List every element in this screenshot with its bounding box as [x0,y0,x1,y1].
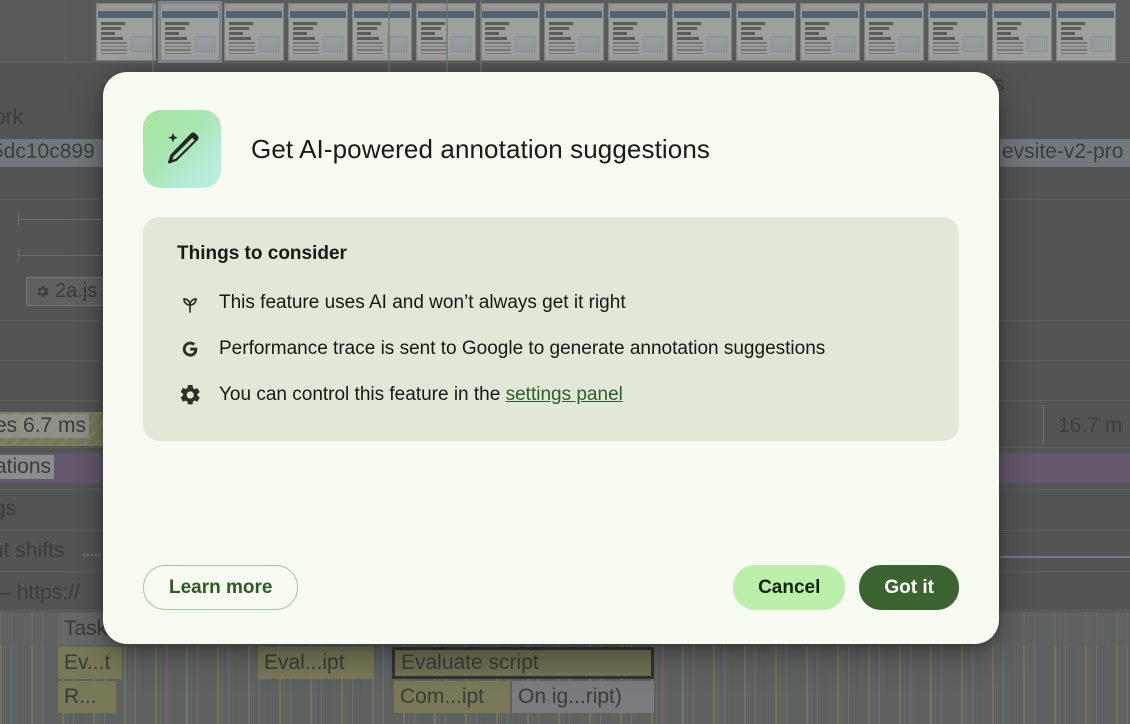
frame-chrome [609,4,667,10]
frame-image [451,36,471,52]
filmstrip-frame[interactable] [1056,3,1116,61]
frame-title [1061,22,1085,40]
layout-shift-marker [1000,556,1130,558]
frame-image [963,36,983,52]
frame-body [357,42,383,56]
flame-chart-row[interactable]: R... Com...ipt On ig...ript) [0,680,1130,714]
frame-image [323,36,343,52]
filmstrip-frame[interactable] [672,3,732,61]
frame-chrome [929,4,987,10]
frame-navbar [802,11,858,18]
filmstrip-frame[interactable] [992,3,1052,61]
frame-body [805,42,831,56]
frame-chrome [289,4,347,10]
filmstrip-frame[interactable] [928,3,988,61]
frame-title [805,22,829,40]
consider-item-label: Performance trace is sent to Google to g… [219,333,825,365]
frame-title [677,22,701,40]
frame-navbar [738,11,794,18]
cancel-button[interactable]: Cancel [733,565,845,610]
frame-chrome [801,4,859,10]
filmstrip-frame[interactable] [352,3,412,61]
consider-list: This feature uses AI and won’t always ge… [177,273,927,411]
frame-title [997,22,1021,40]
frame-body [1061,42,1087,56]
frame-image [195,36,215,52]
dialog-footer: Learn more Cancel Got it [143,539,959,644]
filmstrip-frame[interactable] [544,3,604,61]
frame-title [933,22,957,40]
frame-body [485,42,511,56]
learn-more-button[interactable]: Learn more [143,565,298,610]
flame-bar[interactable]: Ev...t [58,647,122,679]
filmstrip-gutter [0,0,65,62]
frame-chrome [993,4,1051,10]
frame-title [293,22,317,40]
flame-bar-selected[interactable]: Evaluate script [392,647,654,679]
frame-title [165,22,189,40]
frame-chrome [737,4,795,10]
frame-chrome [673,4,731,10]
flame-chart-row[interactable] [0,714,1130,724]
magic-wand-sparkle-icon [143,110,221,188]
frame-body [101,42,127,56]
frame-chrome [353,4,411,10]
frame-body [677,42,703,56]
timing-yellow-label: es 6.7 ms [0,414,89,438]
frame-body [549,42,575,56]
frame-image [1027,36,1047,52]
frame-title [421,22,445,40]
frame-image [259,36,279,52]
frame-image [771,36,791,52]
frame-navbar [354,11,410,18]
flame-bar[interactable]: On ig...ript) [512,681,654,713]
frame-image [1091,36,1111,52]
flame-chart-row[interactable]: Ev...t Eval...ipt Evaluate script [0,646,1130,680]
frame-navbar [482,11,538,18]
filmstrip-frame[interactable] [864,3,924,61]
frame-image [835,36,855,52]
filmstrip-frame[interactable] [96,3,156,61]
filmstrip-frame[interactable] [608,3,668,61]
frame-image [899,36,919,52]
right-duration-label: 16.7 m [1058,414,1122,438]
frame-title [357,22,381,40]
frame-body [421,42,447,56]
frame-title [741,22,765,40]
frame-chrome [865,4,923,10]
sprout-icon [177,290,203,316]
frame-image [643,36,663,52]
frame-title [613,22,637,40]
frame-navbar [674,11,730,18]
timing-purple-label: ations [0,455,54,479]
frame-chrome [97,4,155,10]
frame-image [387,36,407,52]
url-row-label: — https:// [0,581,80,605]
frame-navbar [546,11,602,18]
consider-item-label: This feature uses AI and won’t always ge… [219,287,626,319]
settings-panel-link[interactable]: settings panel [506,384,623,405]
tick [1043,405,1044,445]
frame-chrome [545,4,603,10]
frame-navbar [226,11,282,18]
things-to-consider-heading: Things to consider [177,243,927,265]
frame-title [549,22,573,40]
consider-item-text: You can control this feature in the [219,384,506,405]
consider-item-settings-control: You can control this feature in the sett… [177,365,927,411]
ai-annotation-consent-dialog: Get AI-powered annotation suggestions Th… [103,72,999,644]
filmstrip-frame[interactable] [480,3,540,61]
flame-bar[interactable]: R... [58,681,116,713]
filmstrip-frame[interactable] [736,3,796,61]
things-to-consider-panel: Things to consider This feature uses AI … [143,217,959,441]
frame-body [933,42,959,56]
filmstrip[interactable] [0,0,1130,63]
frame-navbar [930,11,986,18]
frame-body [165,42,191,56]
frame-title [869,22,893,40]
screen: ork 5dc10c899 evsite-v2-pro s 2a.js es 6… [0,0,1130,724]
google-g-icon [177,336,203,362]
frame-body [229,42,255,56]
script-chip-label: 2a.js [55,280,97,303]
dialog-header: Get AI-powered annotation suggestions [143,110,959,188]
flame-bar[interactable]: Eval...ipt [258,647,374,679]
filmstrip-gutter [65,0,94,62]
frame-body [293,42,319,56]
dialog-title: Get AI-powered annotation suggestions [251,134,710,165]
frame-navbar [1058,11,1114,18]
consider-item-data-sent: Performance trace is sent to Google to g… [177,319,927,365]
flame-noise [0,714,1130,724]
frame-title [101,22,125,40]
script-chip[interactable]: 2a.js [26,277,106,306]
filmstrip-frame[interactable] [288,3,348,61]
gear-icon [177,382,203,408]
frame-navbar [866,11,922,18]
network-request-right-label: evsite-v2-pro [1002,140,1123,164]
frame-chrome [1057,4,1115,10]
layout-shifts-row-label: ut shifts [0,539,64,563]
frame-navbar [98,11,154,18]
filmstrip-frame[interactable] [224,3,284,61]
got-it-button[interactable]: Got it [859,565,959,610]
flame-bar[interactable]: Com...ipt [394,681,510,713]
network-section-label: ork [0,106,23,130]
frame-body [613,42,639,56]
frame-body [997,42,1023,56]
frame-chrome [481,4,539,10]
frame-navbar [290,11,346,18]
frame-image [515,36,535,52]
timings-row-label: gs [0,497,16,521]
network-request-label: 5dc10c899 [0,140,95,164]
consider-item-ai-accuracy: This feature uses AI and won’t always ge… [177,273,927,319]
filmstrip-frame[interactable] [800,3,860,61]
frame-navbar [162,11,218,18]
frame-chrome [225,4,283,10]
consider-item-label: You can control this feature in the sett… [219,379,623,411]
frame-image [131,36,151,52]
frame-title [485,22,509,40]
frame-navbar [610,11,666,18]
frame-image [579,36,599,52]
filmstrip-frames[interactable] [94,0,1130,61]
frame-title [229,22,253,40]
frame-navbar [994,11,1050,18]
frame-body [869,42,895,56]
frame-chrome [161,4,219,10]
frame-body [741,42,767,56]
gear-icon [35,284,50,299]
frame-image [707,36,727,52]
filmstrip-frame[interactable] [160,3,220,61]
